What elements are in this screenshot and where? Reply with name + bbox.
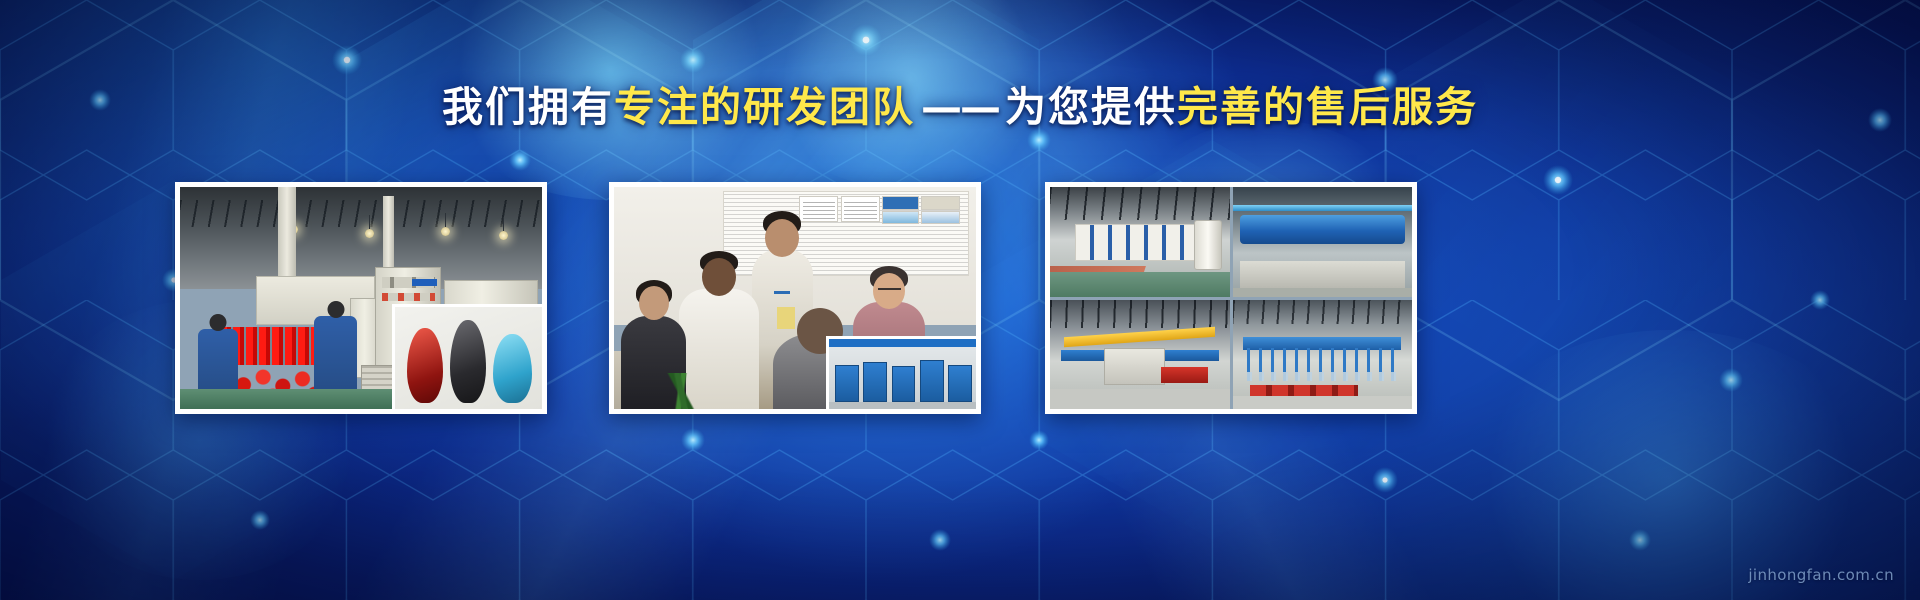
roof-truss [180, 200, 542, 227]
collage-quadrant-workshop-cabinets [1050, 187, 1230, 297]
photo-gallery [0, 182, 1920, 414]
poster [799, 196, 838, 222]
person-head [765, 219, 799, 257]
glasses-icon [878, 288, 901, 293]
duct-base [1240, 261, 1405, 289]
warehouse-ceiling [1050, 187, 1230, 220]
machine-unit [863, 362, 887, 403]
poster-diagram [921, 211, 960, 224]
blue-vase [493, 334, 532, 402]
lanyard [774, 291, 790, 294]
workshop-floor [1050, 389, 1230, 409]
machine-unit [835, 365, 859, 403]
collage-quadrant-hanger-racks [1233, 300, 1413, 410]
photo-production-line [180, 187, 542, 409]
panel-label [412, 279, 437, 286]
red-vase [407, 328, 443, 403]
machine-unit [920, 360, 944, 402]
poster-text-lines [803, 199, 836, 219]
photo-card-production-line[interactable] [175, 182, 547, 414]
conveyor-machine [1104, 348, 1165, 385]
support-column [278, 187, 296, 289]
black-vase [450, 320, 486, 403]
ceiling-lamp-icon [365, 229, 374, 238]
workshop-floor [1233, 396, 1413, 409]
poster-diagram [882, 211, 919, 224]
headline-dash: —— [915, 83, 1005, 131]
poster [841, 196, 880, 222]
machine-unit [948, 365, 972, 403]
machine-floor [829, 402, 976, 409]
photo-card-rnd-meeting[interactable] [609, 182, 981, 414]
white-tank [1194, 220, 1223, 270]
support-column [383, 196, 394, 276]
collage-quadrant-conveyor [1050, 300, 1230, 410]
ceiling-lamp-icon [499, 231, 508, 240]
worker-head [327, 301, 344, 318]
machine-top-rail [829, 339, 976, 348]
green-floor [1050, 272, 1230, 296]
blue-duct [1240, 215, 1405, 243]
poster-photo [921, 196, 960, 210]
indicator-lights [382, 293, 435, 301]
inset-machinery [826, 336, 976, 409]
person-head [702, 258, 736, 296]
warehouse-ceiling [1050, 300, 1230, 328]
foreground-plant [636, 373, 730, 409]
worker-head [210, 314, 227, 331]
yellow-gantry [1064, 327, 1215, 347]
poster-text-lines [844, 199, 877, 219]
site-watermark: jinhongfan.com.cn [1748, 566, 1894, 584]
poster-photo [882, 196, 919, 210]
overhead-pipe [1233, 205, 1413, 212]
hanger-array [1247, 348, 1398, 381]
ceiling-lamp-icon [441, 227, 450, 236]
workshop-floor [1233, 288, 1413, 297]
person-head [639, 286, 669, 320]
photo-rnd-meeting [614, 187, 976, 409]
collage-quadrant-blue-duct [1233, 187, 1413, 297]
machine-unit [892, 366, 916, 402]
headline-segment-4-highlight: 完善的售后服务 [1177, 83, 1478, 131]
id-badge [777, 307, 795, 329]
photo-card-factory-collage[interactable] [1045, 182, 1417, 414]
headline-segment-2-highlight: 专注的研发团队 [614, 83, 915, 131]
warehouse-ceiling [1233, 300, 1413, 324]
promo-banner: 我们拥有专注的研发团队——为您提供完善的售后服务 [0, 0, 1920, 600]
headline-segment-3: 为您提供 [1005, 83, 1177, 131]
headline-segment-1: 我们拥有 [442, 83, 614, 131]
red-parts [1161, 367, 1208, 382]
inset-vases [392, 304, 542, 409]
banner-headline: 我们拥有专注的研发团队——为您提供完善的售后服务 [0, 82, 1920, 133]
photo-factory-collage [1050, 187, 1412, 409]
